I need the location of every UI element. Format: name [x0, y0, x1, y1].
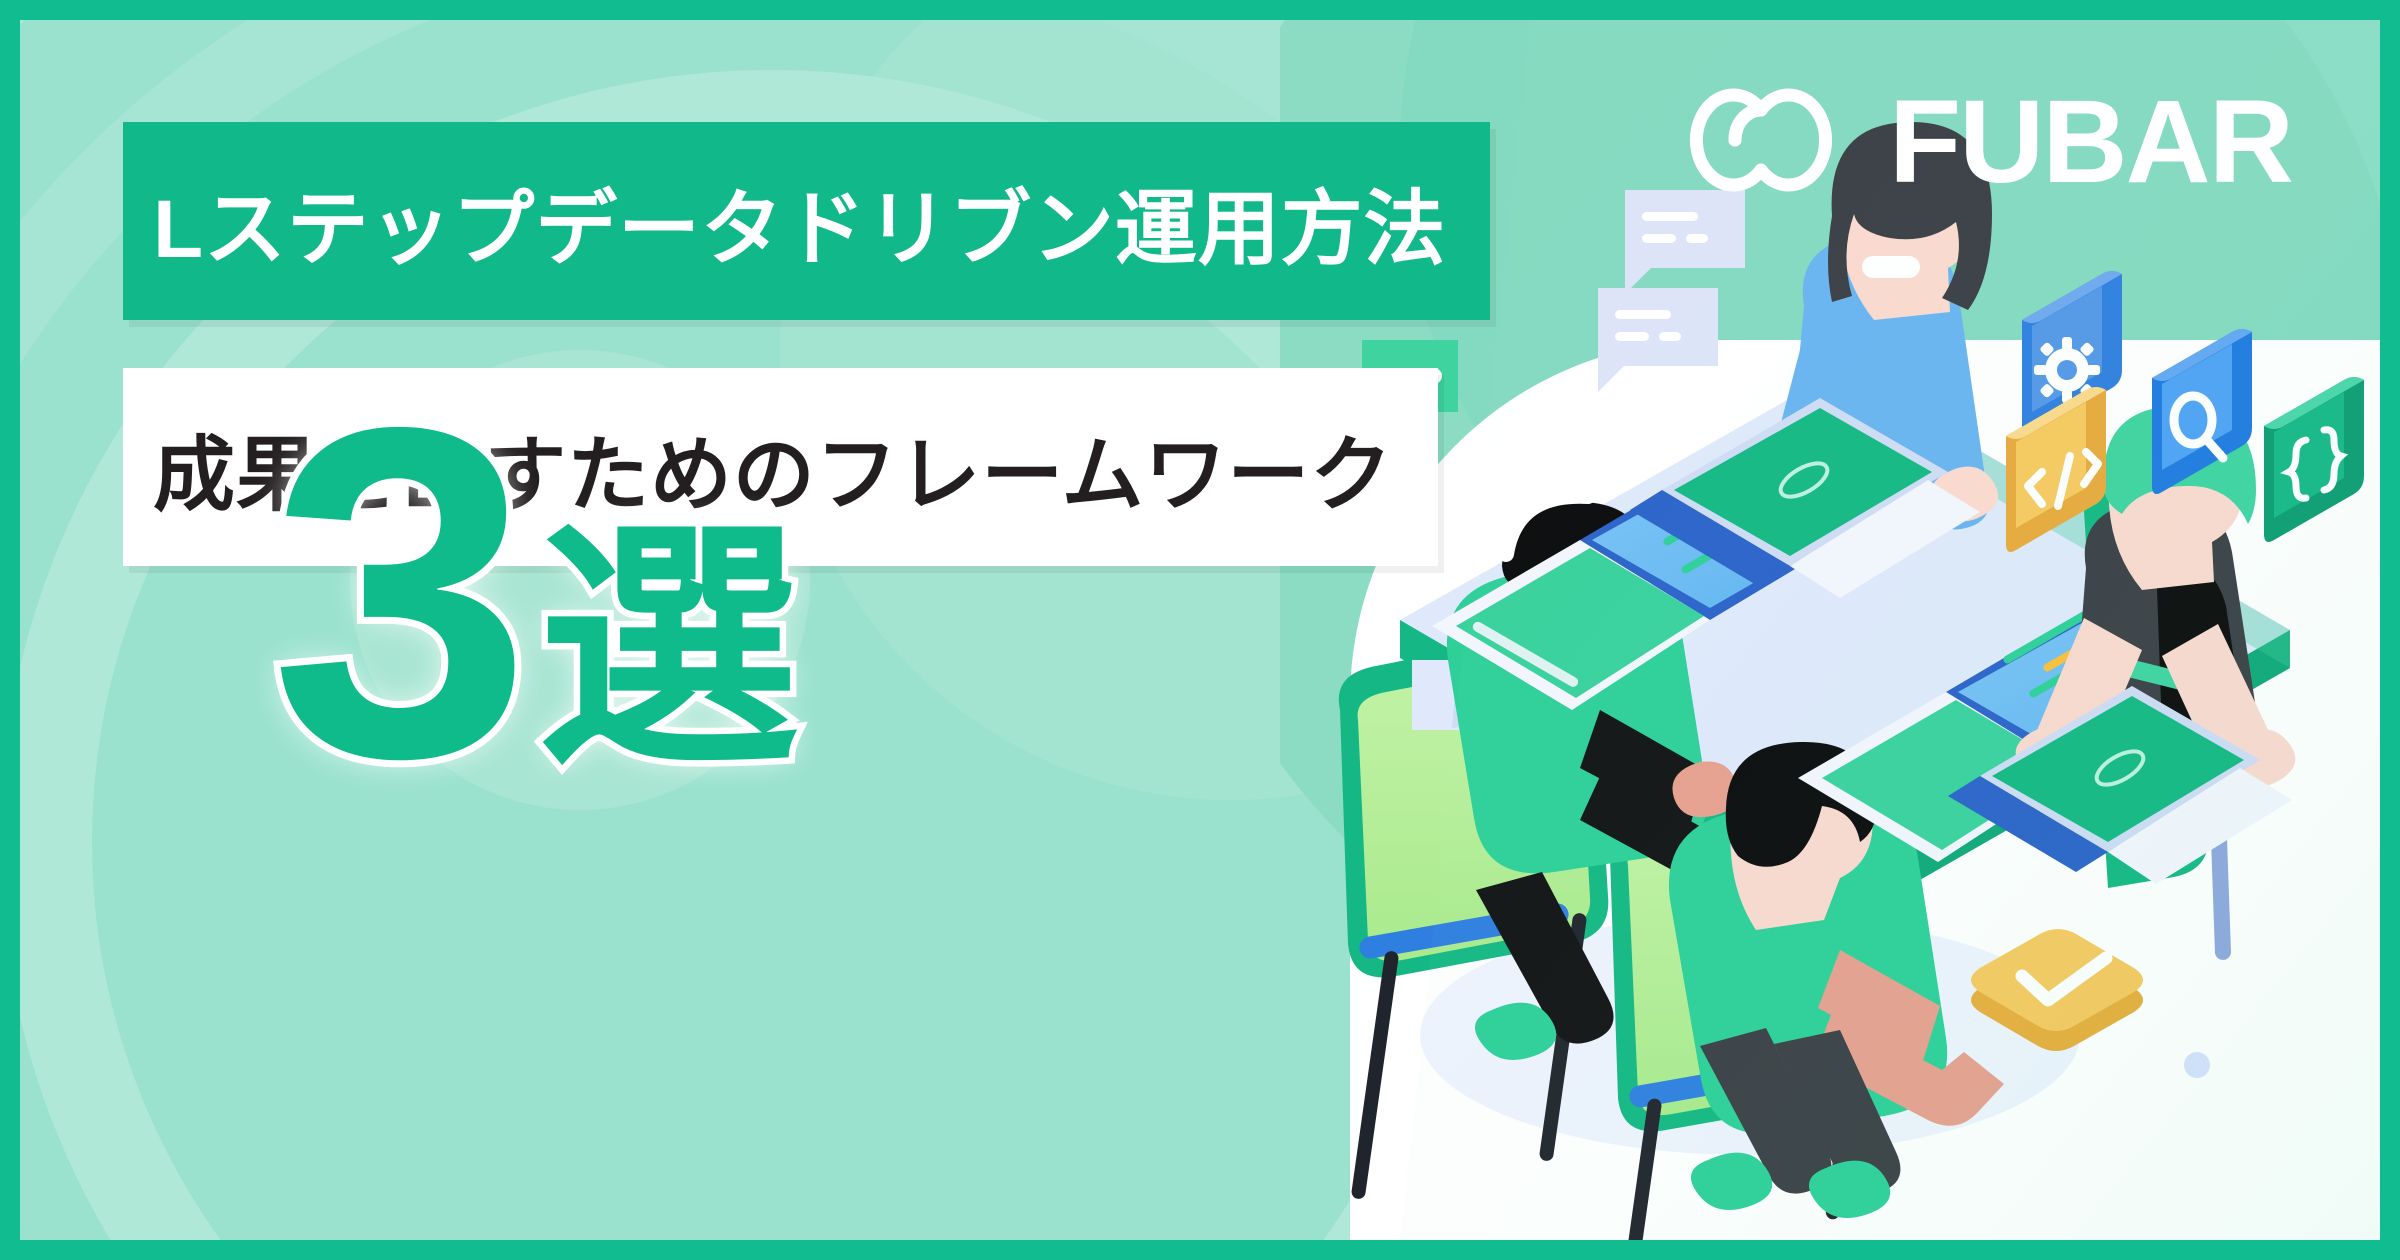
- banner-canvas: Lステップデータドリブン運用方法 成果を出すためのフレームワーク 3 選: [20, 20, 2380, 1240]
- promo-banner: Lステップデータドリブン運用方法 成果を出すためのフレームワーク 3 選: [0, 0, 2400, 1260]
- brand-wordmark: FUBAR: [1889, 74, 2292, 210]
- decorative-dot: [2184, 1052, 2210, 1078]
- brand-lockup: FUBAR: [1665, 74, 2292, 210]
- headline-line2: 成果を出すためのフレームワーク: [123, 408, 1393, 527]
- headline-bar-primary: Lステップデータドリブン運用方法: [123, 122, 1490, 320]
- interlocking-loops-icon: [1665, 80, 1855, 205]
- headline-line1: Lステップデータドリブン運用方法: [123, 162, 1446, 281]
- headline-bar-secondary: 成果を出すためのフレームワーク: [123, 368, 1438, 566]
